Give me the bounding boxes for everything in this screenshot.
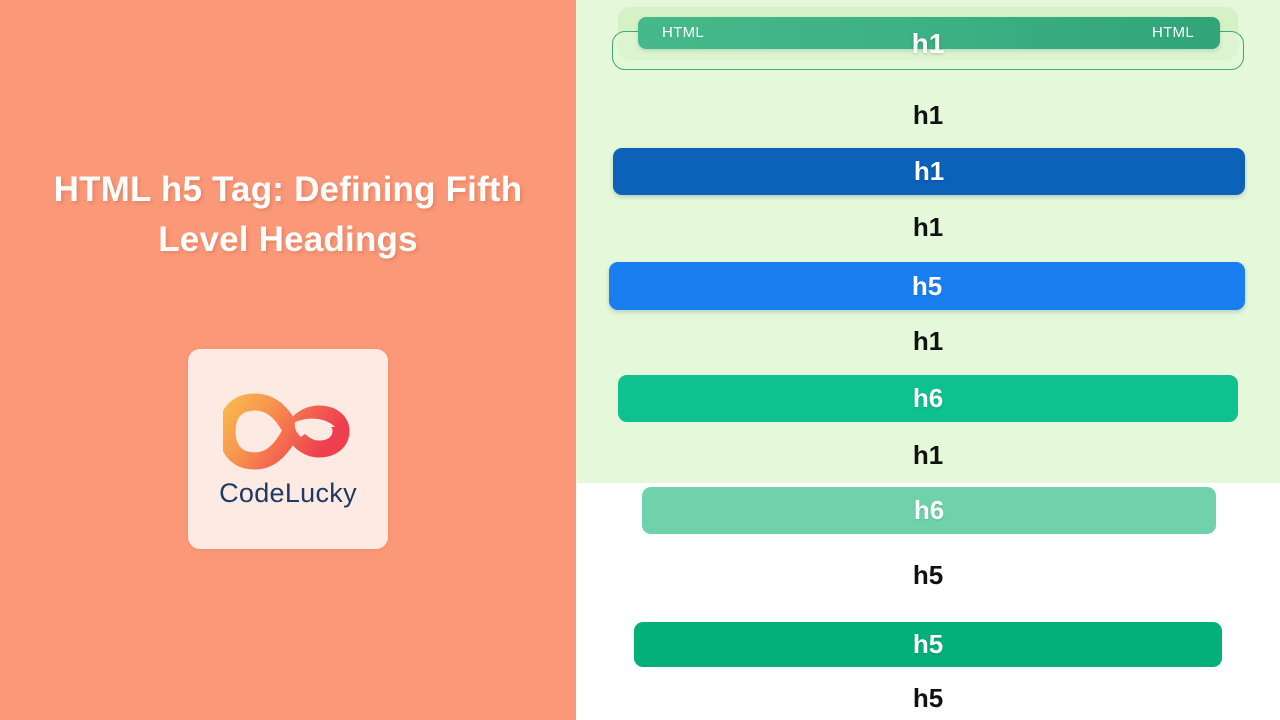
heading-bar-h5-3: h5 <box>609 262 1245 310</box>
left-panel: HTML h5 Tag: Defining Fifth Level Headin… <box>0 0 576 720</box>
heading-label-h1-6: h1 <box>576 440 1280 471</box>
logo-card: CodeLucky <box>188 349 388 549</box>
infinity-leaf-logo-icon <box>223 389 353 474</box>
heading-bar-label: h5 <box>913 629 943 660</box>
heading-label-h5-8: h5 <box>576 560 1280 591</box>
heading-label-h1-4: h1 <box>576 326 1280 357</box>
heading-label-h1-0: h1 <box>576 100 1280 131</box>
right-panel: HTML HTML h1 h1h1h1h5h1h6h1h6h5h5h5 <box>576 0 1280 720</box>
heading-bar-label: h6 <box>913 383 943 414</box>
heading-bar-h1-1: h1 <box>613 148 1245 195</box>
heading-bar-label: h1 <box>914 156 944 187</box>
heading-bar-h5-9: h5 <box>634 622 1222 667</box>
header-overlay-label: h1 <box>576 28 1280 60</box>
heading-bar-h6-7: h6 <box>642 487 1216 534</box>
heading-bar-label: h5 <box>912 271 942 302</box>
page-title: HTML h5 Tag: Defining Fifth Level Headin… <box>38 165 538 264</box>
slide-canvas: HTML h5 Tag: Defining Fifth Level Headin… <box>0 0 1280 720</box>
heading-label-h1-2: h1 <box>576 212 1280 243</box>
heading-label-h5-10: h5 <box>576 683 1280 714</box>
heading-bar-h6-5: h6 <box>618 375 1238 422</box>
logo-wordmark: CodeLucky <box>219 478 357 509</box>
heading-bar-label: h6 <box>914 495 944 526</box>
